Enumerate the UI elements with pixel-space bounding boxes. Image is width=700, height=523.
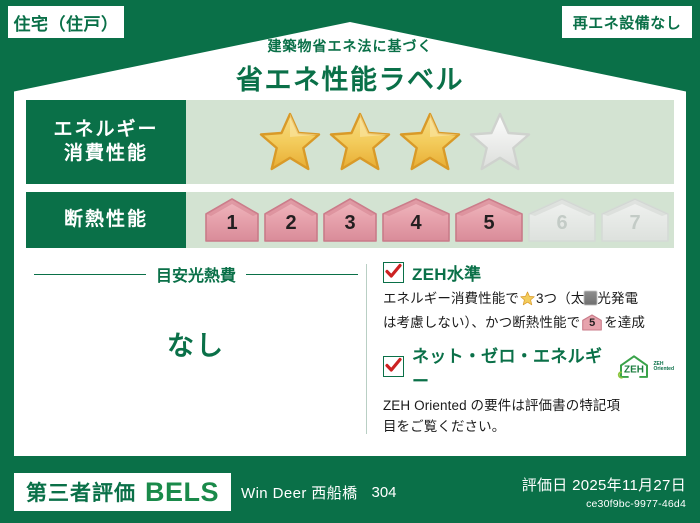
check-icon — [385, 263, 402, 280]
insulation-performance-label-box: 断熱性能 — [26, 192, 186, 248]
zeh-standard-title: ZEH水準 — [412, 260, 482, 285]
check-icon — [385, 357, 402, 374]
energy-performance-label-box: エネルギー 消費性能 — [26, 100, 186, 184]
label-content: エネルギー 消費性能 — [26, 100, 674, 452]
heading-rule-left — [34, 274, 146, 275]
insulation-level-5-number: 5 — [454, 213, 524, 233]
net-zero-energy-block: ネット・ゼロ・エネルギー ZEH ZEH Oriented — [383, 342, 674, 438]
zeh-oriented-caption: ZEH Oriented — [653, 362, 674, 373]
label-footer: 第三者評価 BELS Win Deer 西船橋 304 評価日 2025年11月… — [0, 461, 700, 523]
zeh-body-text-1: エネルギー消費性能で — [383, 291, 519, 306]
zeh-body-text-3: 光発電 — [597, 291, 638, 306]
title-main: 省エネ性能ラベル — [0, 58, 700, 97]
zeh-oriented-logo: ZEH ZEH Oriented — [617, 354, 674, 380]
zeh-house-logo-icon: ZEH — [617, 354, 651, 380]
net-zero-energy-title: ネット・ゼロ・エネルギー — [412, 342, 607, 392]
star-icon-filled-2 — [328, 111, 392, 173]
title-subtitle: 建築物省エネ法に基づく — [0, 36, 700, 56]
insulation-level-3: 3 — [322, 197, 378, 243]
third-party-evaluation-label: 第三者評価 — [26, 477, 136, 507]
insulation-level-7-number: 7 — [600, 213, 670, 233]
evaluation-id: ce30f9bc-9977-46d4 — [522, 498, 686, 510]
utility-cost-heading: 目安光熱費 — [26, 262, 366, 286]
lower-section: 目安光熱費 なし ZEH水準 — [26, 260, 674, 438]
energy-performance-label: 住宅（住戸） 再エネ設備なし 建築物省エネ法に基づく 省エネ性能ラベル エネルギ… — [0, 0, 700, 523]
evaluation-date: 評価日 2025年11月27日 — [522, 474, 686, 495]
insulation-level-4-number: 4 — [381, 213, 451, 233]
checkbox-checked-zeh-standard[interactable] — [383, 262, 404, 283]
insulation-badge-inline: 5 — [582, 314, 602, 331]
utility-cost-heading-text: 目安光熱費 — [156, 262, 236, 286]
zeh-body-text-4: は考慮しない）、かつ断熱性能で — [383, 315, 580, 330]
energy-performance-row: エネルギー 消費性能 — [26, 100, 674, 184]
label-title: 建築物省エネ法に基づく 省エネ性能ラベル — [0, 36, 700, 97]
heading-rule-right — [246, 274, 358, 275]
star-rating — [186, 111, 532, 173]
insulation-level-1: 1 — [204, 197, 260, 243]
zeh-standard-head: ZEH水準 — [383, 260, 674, 285]
insulation-rating-scale: 1 2 3 — [186, 197, 670, 243]
zeh-body-text-2: 3つ（太 — [536, 291, 584, 306]
utility-cost-section: 目安光熱費 なし — [26, 260, 366, 438]
building-unit-number: 304 — [372, 484, 397, 501]
redacted-character — [584, 291, 597, 305]
certification-section: ZEH水準 エネルギー消費性能で3つ（太光発電は考慮しない）、かつ断熱性能で5を… — [381, 260, 674, 438]
zeh-standard-block: ZEH水準 エネルギー消費性能で3つ（太光発電は考慮しない）、かつ断熱性能で5を… — [383, 260, 674, 334]
insulation-performance-value: 1 2 3 — [186, 192, 674, 248]
net-zero-energy-body: ZEH Oriented の要件は評価書の特記項 目をご覧ください。 — [383, 396, 674, 438]
energy-label-line1: エネルギー — [53, 118, 158, 142]
bels-certification-badge: 第三者評価 BELS — [14, 473, 231, 511]
energy-performance-value — [186, 100, 674, 184]
insulation-level-2: 2 — [263, 197, 319, 243]
star-icon-filled-3 — [398, 111, 462, 173]
insulation-level-5: 5 — [454, 197, 524, 243]
building-name: Win Deer 西船橋 — [241, 482, 357, 503]
insulation-level-4: 4 — [381, 197, 451, 243]
zeh-body-text-5: を達成 — [604, 315, 645, 330]
star-icon-filled-1 — [258, 111, 322, 173]
insulation-level-1-number: 1 — [204, 213, 260, 233]
net-zero-energy-head: ネット・ゼロ・エネルギー ZEH ZEH Oriented — [383, 342, 674, 392]
insulation-level-7: 7 — [600, 197, 670, 243]
energy-label-line2: 消費性能 — [64, 142, 148, 166]
insulation-level-2-number: 2 — [263, 213, 319, 233]
insulation-badge-inline-number: 5 — [582, 318, 602, 329]
insulation-level-6: 6 — [527, 197, 597, 243]
zeh-caption-line2: Oriented — [653, 366, 674, 372]
checkbox-checked-net-zero-energy[interactable] — [383, 356, 404, 377]
renewable-equipment-tag: 再エネ設備なし — [562, 6, 692, 38]
insulation-level-3-number: 3 — [322, 213, 378, 233]
bels-logo-text: BELS — [145, 477, 219, 508]
net-zero-body-line2: 目をご覧ください。 — [383, 419, 505, 434]
star-icon-inline — [520, 291, 535, 313]
section-divider — [366, 264, 367, 434]
zeh-standard-body: エネルギー消費性能で3つ（太光発電は考慮しない）、かつ断熱性能で5を達成 — [383, 289, 674, 334]
footer-meta: 評価日 2025年11月27日 ce30f9bc-9977-46d4 — [522, 474, 686, 510]
net-zero-body-line1: ZEH Oriented の要件は評価書の特記項 — [383, 398, 620, 413]
insulation-level-6-number: 6 — [527, 213, 597, 233]
star-icon-empty-4 — [468, 111, 532, 173]
building-type-tag: 住宅（住戸） — [8, 6, 124, 38]
utility-cost-value: なし — [26, 324, 366, 363]
insulation-performance-row: 断熱性能 — [26, 192, 674, 248]
svg-text:ZEH: ZEH — [625, 364, 645, 375]
